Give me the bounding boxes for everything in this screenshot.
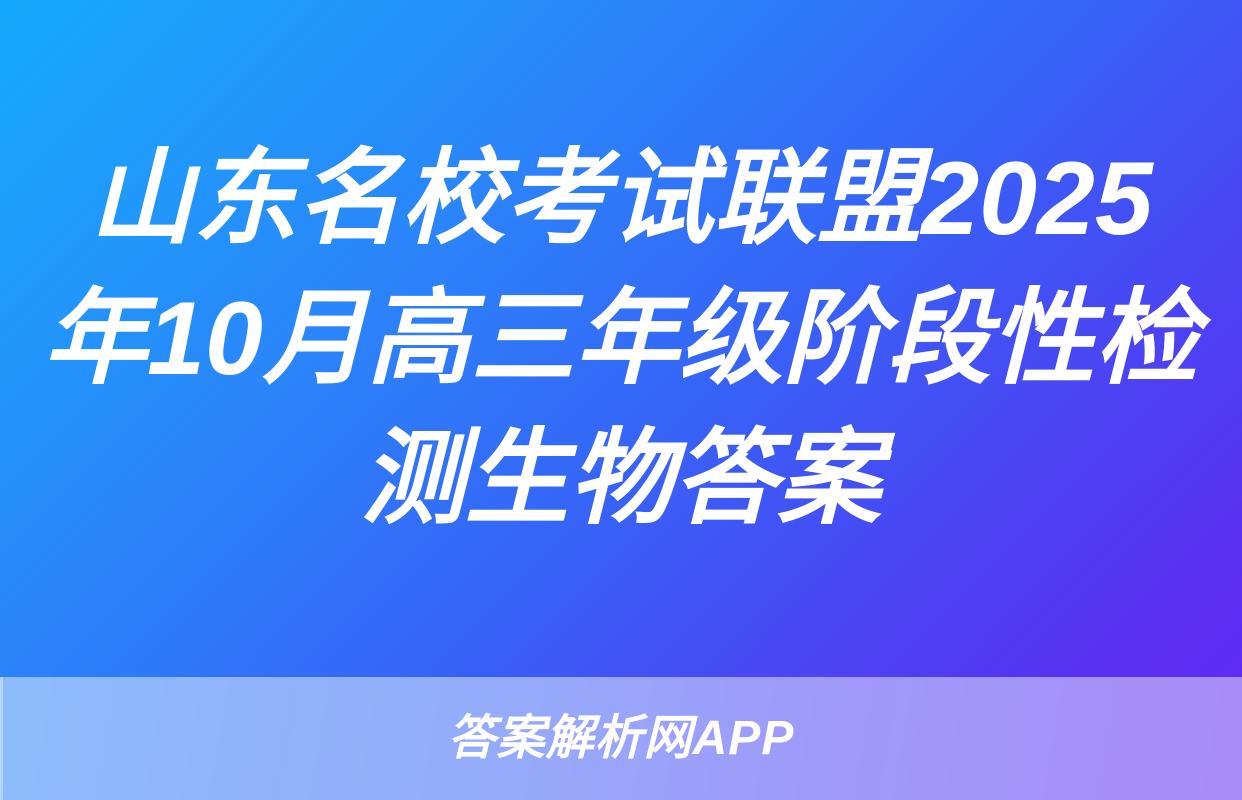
poster-canvas: 山东名校考试联盟2025 年10月高三年级阶段性检 测生物答案 答案解析网APP [0, 0, 1242, 800]
title-line-1: 山东名校考试联盟2025 [89, 141, 1152, 257]
title-line-3: 测生物答案 [361, 421, 881, 537]
watermark-band: 答案解析网APP [0, 677, 1242, 800]
title-region: 山东名校考试联盟2025 年10月高三年级阶段性检 测生物答案 [0, 0, 1242, 677]
page-title: 山东名校考试联盟2025 年10月高三年级阶段性检 测生物答案 [40, 129, 1202, 549]
title-line-2: 年10月高三年级阶段性检 [43, 281, 1199, 397]
watermark-app-label: 答案解析网APP [448, 711, 795, 767]
